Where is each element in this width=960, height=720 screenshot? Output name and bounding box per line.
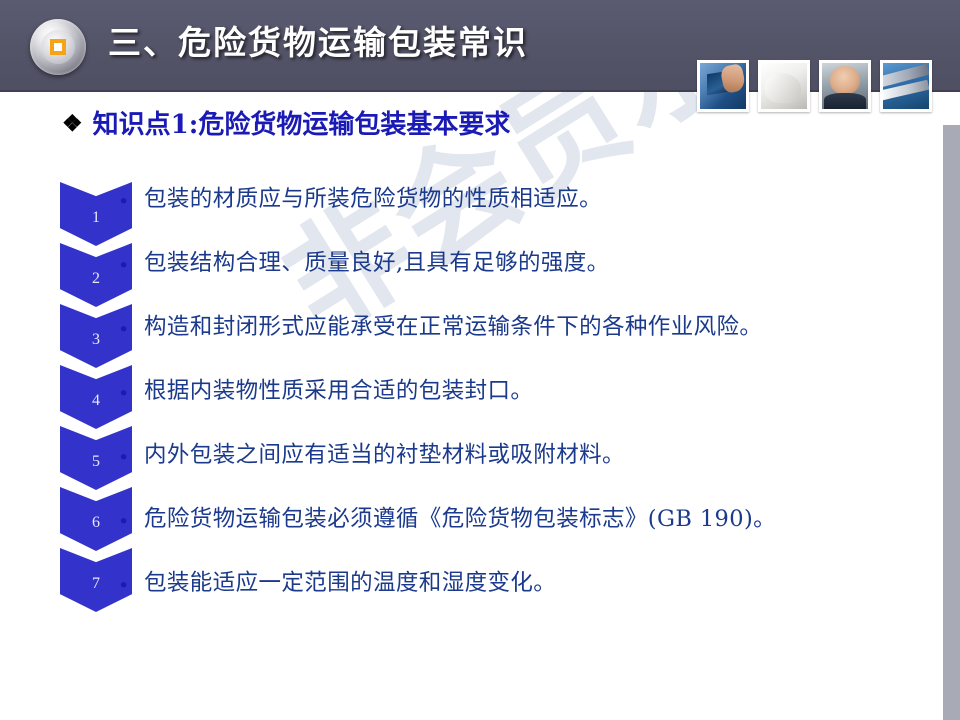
list-item-text: 构造和封闭形式应能承受在正常运输条件下的各种作业风险。 — [144, 311, 762, 341]
logo-orb-icon — [30, 19, 86, 75]
chevron-step-7-number: 7 — [92, 576, 100, 592]
list-item: • 危险货物运输包装必须遵循《危险货物包装标志》(GB 190)。 — [118, 503, 938, 567]
chevron-step-5-number: 5 — [92, 454, 100, 470]
thumbnail-strip — [697, 60, 932, 112]
requirements-list: • 包装的材质应与所装危险货物的性质相适应。 • 包装结构合理、质量良好,且具有… — [118, 183, 938, 631]
bullet-dot-icon: • — [118, 439, 144, 468]
page-title: 三、危险货物运输包装常识 — [108, 16, 528, 64]
chevron-step-2-number: 2 — [92, 271, 100, 287]
chevron-step-4-number: 4 — [92, 393, 100, 409]
list-item-text: 危险货物运输包装必须遵循《危险货物包装标志》(GB 190)。 — [144, 503, 776, 533]
bullet-dot-icon: • — [118, 375, 144, 404]
thumbnail-white-product — [758, 60, 810, 112]
right-edge-strip — [943, 125, 960, 720]
bullet-dot-icon: • — [118, 311, 144, 340]
chevron-step-3-number: 3 — [92, 332, 100, 348]
chevron-step-6-number: 6 — [92, 515, 100, 531]
diamond-bullet-icon: ❖ — [62, 110, 83, 137]
bullet-dot-icon: • — [118, 183, 144, 212]
list-item-text: 内外包装之间应有适当的衬垫材料或吸附材料。 — [144, 439, 625, 469]
list-item: • 包装结构合理、质量良好,且具有足够的强度。 — [118, 247, 938, 311]
thumbnail-businessman-portrait — [819, 60, 871, 112]
logo-inner-ring — [41, 30, 75, 64]
list-item: • 包装能适应一定范围的温度和湿度变化。 — [118, 567, 938, 631]
logo-square-icon — [50, 39, 66, 55]
thumbnail-tablet-hands — [697, 60, 749, 112]
list-item: • 构造和封闭形式应能承受在正常运输条件下的各种作业风险。 — [118, 311, 938, 375]
list-item: • 内外包装之间应有适当的衬垫材料或吸附材料。 — [118, 439, 938, 503]
list-item: • 包装的材质应与所装危险货物的性质相适应。 — [118, 183, 938, 247]
list-item: • 根据内装物性质采用合适的包装封口。 — [118, 375, 938, 439]
section-subtitle: ❖知识点1:危险货物运输包装基本要求 — [62, 104, 510, 141]
list-item-text: 包装的材质应与所装危险货物的性质相适应。 — [144, 183, 602, 213]
slide-root: 非会员水印 三、危险货物运输包装常识 ❖知识点1:危险货物运输包装基本要求 1 … — [0, 0, 960, 720]
list-item-text: 根据内装物性质采用合适的包装封口。 — [144, 375, 533, 405]
chevron-step-1-number: 1 — [92, 210, 100, 226]
section-subtitle-label: 知识点1:危险货物运输包装基本要求 — [93, 110, 511, 140]
bullet-dot-icon: • — [118, 247, 144, 276]
list-item-text: 包装结构合理、质量良好,且具有足够的强度。 — [144, 247, 610, 277]
list-item-text: 包装能适应一定范围的温度和湿度变化。 — [144, 567, 556, 597]
bullet-dot-icon: • — [118, 503, 144, 532]
thumbnail-stacked-boxes — [880, 60, 932, 112]
bullet-dot-icon: • — [118, 567, 144, 596]
